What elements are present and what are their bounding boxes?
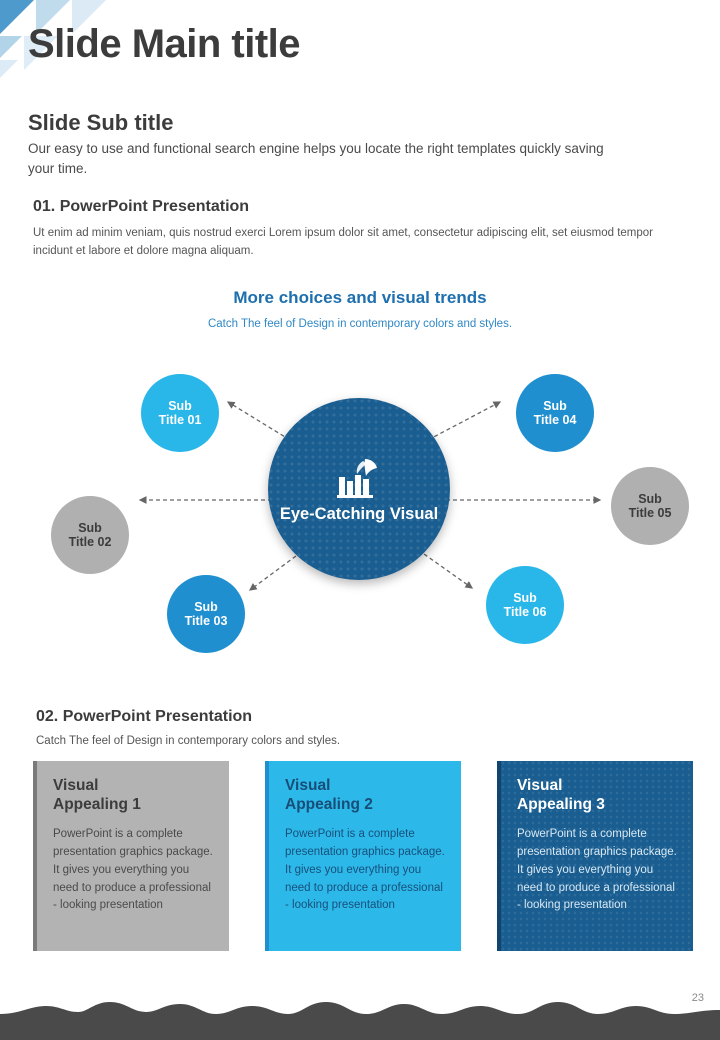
- node-01-line2: Title 01: [159, 413, 202, 427]
- card-visual-appealing-3[interactable]: Visual Appealing 3 PowerPoint is a compl…: [497, 761, 693, 951]
- section-2-heading: 02. PowerPoint Presentation: [36, 708, 252, 726]
- card-1-title-line1: Visual: [53, 777, 98, 794]
- section-2-body: Catch The feel of Design in contemporary…: [36, 735, 340, 747]
- card-2-title-line1: Visual: [285, 777, 330, 794]
- card-1-title-line2: Appealing 1: [53, 796, 141, 813]
- card-visual-appealing-2[interactable]: Visual Appealing 2 PowerPoint is a compl…: [265, 761, 461, 951]
- card-2-title-line2: Appealing 2: [285, 796, 373, 813]
- section-1-body: Ut enim ad minim veniam, quis nostrud ex…: [33, 224, 685, 261]
- page-subtitle: Slide Sub title: [28, 110, 173, 136]
- factory-leaf-icon: [327, 455, 391, 499]
- card-3-text: PowerPoint is a complete presentation gr…: [517, 826, 679, 915]
- diagram-node-sub-title-06[interactable]: Sub Title 06: [486, 566, 564, 644]
- page-subtitle-description: Our easy to use and functional search en…: [28, 139, 628, 178]
- diagram-node-sub-title-04[interactable]: Sub Title 04: [516, 374, 594, 452]
- card-2-text: PowerPoint is a complete presentation gr…: [285, 826, 447, 915]
- node-03-line1: Sub: [185, 600, 228, 614]
- node-06-line2: Title 06: [504, 605, 547, 619]
- card-2-title: Visual Appealing 2: [285, 777, 447, 814]
- node-05-line1: Sub: [629, 492, 672, 506]
- footer-bar: [0, 1018, 720, 1040]
- slide-canvas: Slide Main title Slide Sub title Our eas…: [0, 0, 720, 1040]
- card-1-title: Visual Appealing 1: [53, 777, 215, 814]
- node-05-line2: Title 05: [629, 506, 672, 520]
- diagram-node-sub-title-03[interactable]: Sub Title 03: [167, 575, 245, 653]
- node-06-line1: Sub: [504, 591, 547, 605]
- diagram-node-sub-title-01[interactable]: Sub Title 01: [141, 374, 219, 452]
- section-1-heading: 01. PowerPoint Presentation: [33, 198, 249, 216]
- node-04-line2: Title 04: [534, 413, 577, 427]
- card-row: Visual Appealing 1 PowerPoint is a compl…: [33, 761, 693, 951]
- card-3-title: Visual Appealing 3: [517, 777, 679, 814]
- cloud-decoration: [0, 988, 720, 1018]
- node-03-line2: Title 03: [185, 614, 228, 628]
- page-title: Slide Main title: [28, 22, 300, 67]
- node-02-line2: Title 02: [69, 535, 112, 549]
- card-3-title-line2: Appealing 3: [517, 796, 605, 813]
- diagram-center-label: Eye-Catching Visual: [280, 505, 438, 524]
- card-visual-appealing-1[interactable]: Visual Appealing 1 PowerPoint is a compl…: [33, 761, 229, 951]
- hub-and-spoke-diagram: Eye-Catching Visual Sub Title 01 Sub Tit…: [0, 340, 720, 670]
- diagram-node-sub-title-02[interactable]: Sub Title 02: [51, 496, 129, 574]
- node-02-line1: Sub: [69, 521, 112, 535]
- diagram-center-node: Eye-Catching Visual: [268, 398, 450, 580]
- node-01-line1: Sub: [159, 399, 202, 413]
- card-1-text: PowerPoint is a complete presentation gr…: [53, 826, 215, 915]
- center-label-line2: Visual: [390, 505, 438, 523]
- diagram-subtitle: Catch The feel of Design in contemporary…: [0, 318, 720, 330]
- diagram-node-sub-title-05[interactable]: Sub Title 05: [611, 467, 689, 545]
- diagram-title: More choices and visual trends: [0, 288, 720, 308]
- card-3-title-line1: Visual: [517, 777, 562, 794]
- center-label-line1: Eye-Catching: [280, 505, 385, 523]
- node-04-line1: Sub: [534, 399, 577, 413]
